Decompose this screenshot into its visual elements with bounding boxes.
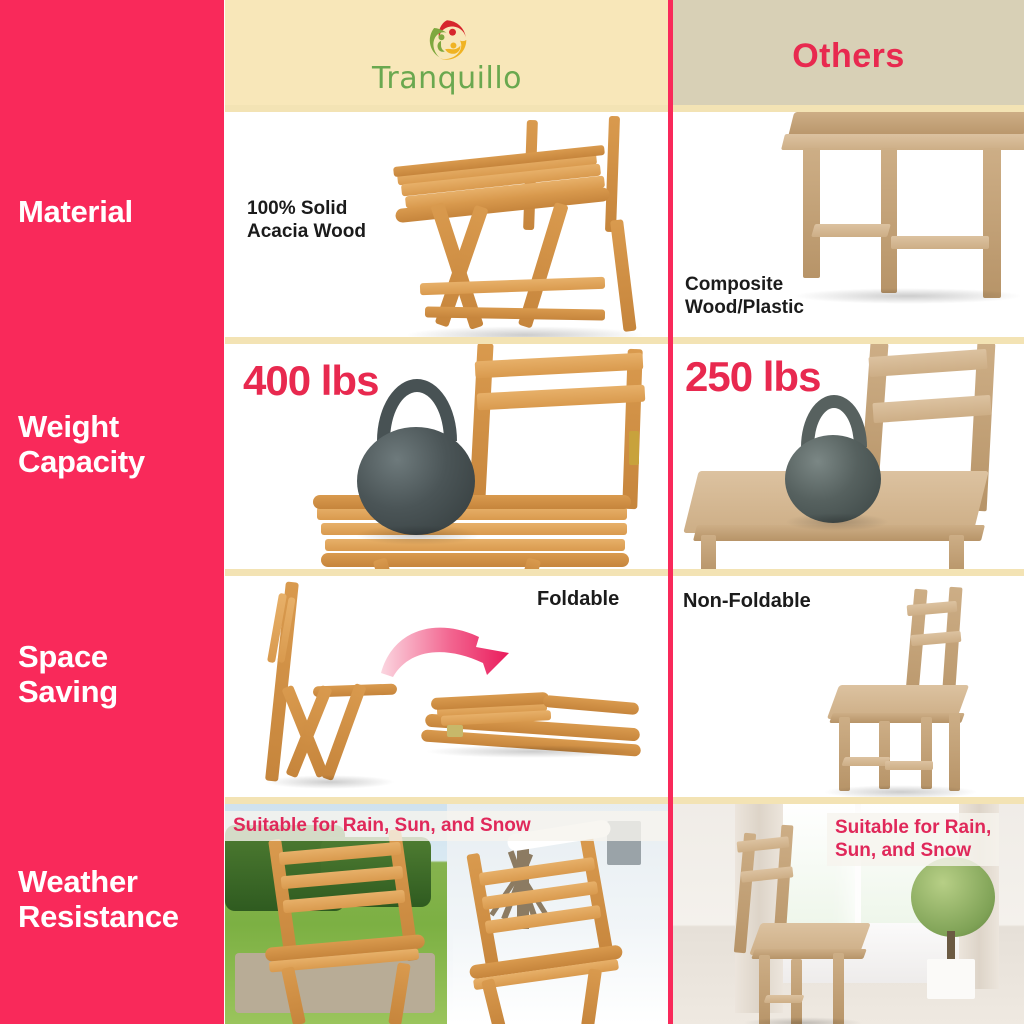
cell-space-ours: Foldable — [225, 575, 669, 803]
space-theirs-caption: Non-Foldable — [683, 589, 811, 613]
divider-columns — [668, 0, 673, 1024]
space-ours-caption: Foldable — [537, 587, 619, 611]
comparison-chart: Material Weight Capacity Space Saving We… — [0, 0, 1024, 1024]
cell-weather-ours: Suitable for Rain, Sun, and Snow — [225, 803, 669, 1024]
cell-material-theirs: Composite Wood/Plastic — [673, 112, 1024, 343]
cell-weight-ours: 400 lbs — [225, 343, 669, 575]
weight-theirs-value: 250 lbs — [685, 353, 820, 401]
divider-row-3 — [225, 797, 1024, 804]
tranquillo-circle-logo-icon — [424, 17, 470, 63]
divider-row-1 — [225, 337, 1024, 344]
divider-header — [225, 105, 1024, 112]
material-theirs-caption: Composite Wood/Plastic — [685, 274, 804, 320]
weather-ours-caption: Suitable for Rain, Sun, and Snow — [225, 811, 669, 841]
feature-label-material: Material — [18, 195, 218, 230]
cell-space-theirs: Non-Foldable — [673, 575, 1024, 803]
feature-label-space-saving: Space Saving — [18, 640, 218, 709]
weather-theirs-caption: Suitable for Rain, Sun, and Snow — [827, 813, 999, 866]
feature-label-rail: Material Weight Capacity Space Saving We… — [0, 0, 224, 1024]
material-ours-caption: 100% Solid Acacia Wood — [247, 198, 366, 244]
weight-ours-value: 400 lbs — [243, 357, 378, 405]
feature-label-weight-capacity: Weight Capacity — [18, 410, 218, 479]
competitor-header: Others — [673, 0, 1024, 112]
competitor-label: Others — [792, 37, 905, 76]
feature-label-weather-resistance: Weather Resistance — [18, 865, 218, 934]
cell-material-ours: 100% Solid Acacia Wood — [225, 112, 669, 343]
divider-row-2 — [225, 569, 1024, 576]
cell-weight-theirs: 250 lbs — [673, 343, 1024, 575]
brand-header: Tranquillo — [225, 0, 669, 112]
curved-arrow-icon — [375, 619, 525, 679]
brand-name: Tranquillo — [372, 61, 522, 96]
cell-weather-theirs: Suitable for Rain, Sun, and Snow — [673, 803, 1024, 1024]
